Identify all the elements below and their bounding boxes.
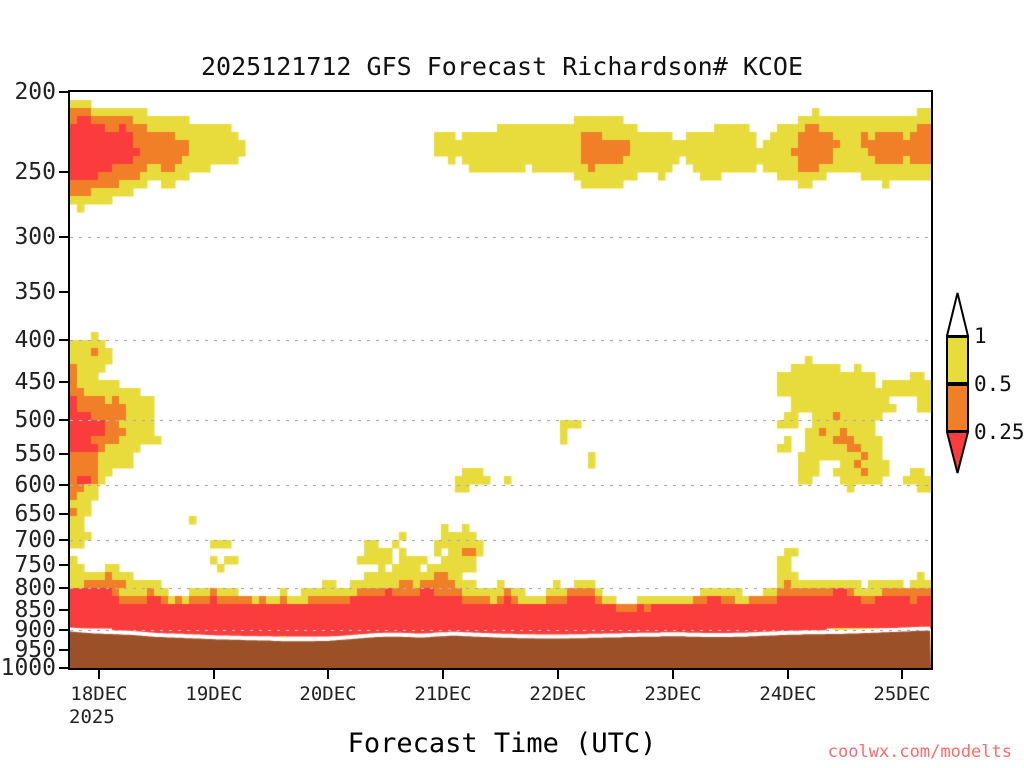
y-tick-mark-550 [59,453,68,455]
colorbar-band-yellow [946,336,969,384]
y-tick-mark-950 [59,649,68,651]
x-tick-mark-20DEC [327,670,329,679]
gridline-1000 [70,668,931,669]
x-tick-label-19DEC: 19DEC [154,683,274,705]
y-tick-mark-1000 [59,667,68,669]
y-tick-label-450: 450 [0,369,56,395]
x-tick-label-21DEC: 21DEC [383,683,503,705]
y-tick-mark-350 [59,291,68,293]
x-tick-mark-22DEC [557,670,559,679]
y-tick-mark-400 [59,339,68,341]
page-title: 2025121712 GFS Forecast Richardson# KCOE [0,52,1004,81]
colorbar-label-0p25: 0.25 [974,420,1024,444]
y-tick-mark-500 [59,419,68,421]
y-tick-mark-700 [59,539,68,541]
y-tick-mark-800 [59,587,68,589]
colorbar-legend: 1 0.5 0.25 [946,292,970,474]
chart-root: 2025121712 GFS Forecast Richardson# KCOE… [0,0,1024,768]
y-tick-label-250: 250 [0,159,56,185]
x-axis-year-label: 2025 [69,706,115,728]
x-tick-mark-23DEC [672,670,674,679]
watermark: coolwx.com/modelts [828,742,1012,762]
y-tick-mark-450 [59,381,68,383]
y-tick-mark-600 [59,484,68,486]
y-tick-label-600: 600 [0,472,56,498]
x-tick-label-20DEC: 20DEC [268,683,388,705]
y-tick-mark-650 [59,513,68,515]
x-tick-mark-25DEC [901,670,903,679]
colorbar-label-1: 1 [974,324,987,348]
x-tick-label-25DEC: 25DEC [842,683,962,705]
y-tick-mark-300 [59,236,68,238]
x-tick-mark-21DEC [442,670,444,679]
y-tick-label-650: 650 [0,501,56,527]
colorbar-label-0p5: 0.5 [974,372,1012,396]
y-tick-label-550: 550 [0,441,56,467]
y-tick-label-1000: 1000 [0,655,56,681]
colorbar-below-arrow-outline [946,431,970,475]
y-tick-mark-200 [59,91,68,93]
colorbar-above-arrow-outline [946,292,970,338]
y-tick-mark-850 [59,609,68,611]
y-tick-label-400: 400 [0,327,56,353]
y-tick-mark-250 [59,171,68,173]
y-tick-mark-750 [59,564,68,566]
x-tick-label-22DEC: 22DEC [498,683,618,705]
x-tick-label-18DEC: 18DEC [39,683,159,705]
y-tick-label-350: 350 [0,279,56,305]
colorbar-band-orange [946,384,969,432]
y-tick-mark-900 [59,629,68,631]
y-tick-label-300: 300 [0,224,56,250]
richardson-heatmap [70,92,931,668]
y-tick-label-200: 200 [0,79,56,105]
x-tick-mark-19DEC [213,670,215,679]
y-tick-label-500: 500 [0,407,56,433]
x-tick-label-24DEC: 24DEC [728,683,848,705]
x-tick-mark-24DEC [787,670,789,679]
x-tick-mark-18DEC [98,670,100,679]
x-tick-label-23DEC: 23DEC [613,683,733,705]
y-tick-label-700: 700 [0,527,56,553]
plot-area [68,90,933,670]
